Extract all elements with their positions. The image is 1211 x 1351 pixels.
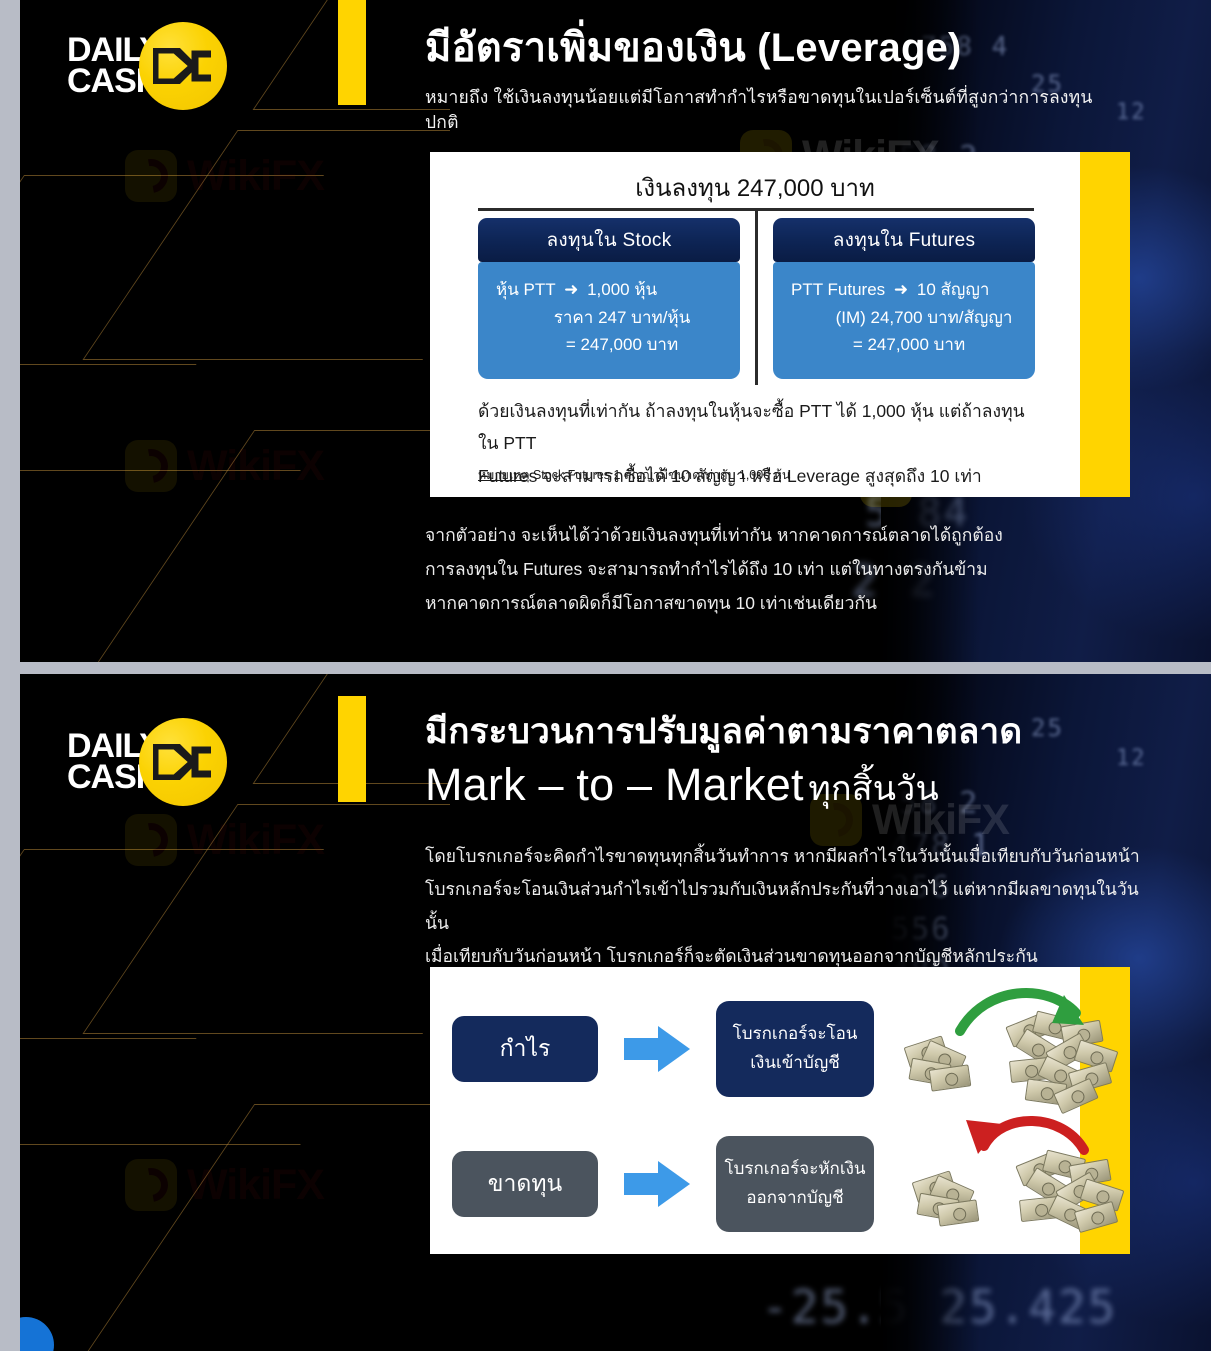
brand-logo[interactable]: DAILY CASH <box>67 22 227 110</box>
flow-message-loss-line-2: ออกจากบัญชี <box>746 1184 843 1213</box>
stock-line-3: = 247,000 บาท <box>496 331 722 359</box>
column-stock-header: ลงทุนใน Stock <box>478 218 740 262</box>
footnote-label: หมายเหตุ <box>478 468 529 482</box>
flow-row-profit: กำไร โบรกเกอร์จะโอน เงินเข้าบัญชี <box>452 989 1150 1109</box>
card-paragraph-line-1: ด้วยเงินลงทุนที่เท่ากัน ถ้าลงทุนในหุ้นจะ… <box>478 395 1038 460</box>
slide2-body-line-2: โบรกเกอร์จะโอนเงินส่วนกำไรเข้าไปรวมกับเง… <box>425 873 1145 940</box>
footnote-text: Stock Futures 1 สัญญามีขนาดเท่ากับ 1,000… <box>533 468 790 482</box>
accent-bar <box>338 0 366 105</box>
slide2-title-th: ทุกสิ้นวัน <box>808 770 939 808</box>
column-futures-body: PTT Futures ➜ 10 สัญญา (IM) 24,700 บาท/ส… <box>773 262 1035 379</box>
dc-monogram-icon <box>139 22 227 110</box>
stock-line-2: ราคา 247 บาท/หุ้น <box>496 304 722 332</box>
slide1-body-line-2: การลงทุนใน Futures จะสามารถทำกำไรได้ถึง … <box>425 552 1125 586</box>
slide1-body-line-3: หากคาดการณ์ตลาดผิดก็มีโอกาสขาดทุน 10 เท่… <box>425 586 1125 620</box>
flow-message-profit-line-1: โบรกเกอร์จะโอน <box>733 1020 858 1049</box>
card-divider-vertical <box>755 210 758 385</box>
flow-label-loss: ขาดทุน <box>452 1151 598 1217</box>
money-illustration-profit <box>900 989 1150 1109</box>
slide1-body-line-1: จากตัวอย่าง จะเห็นได้ว่าด้วยเงินลงทุนที่… <box>425 518 1125 552</box>
dc-monogram-icon <box>139 718 227 806</box>
accent-bar <box>338 696 366 802</box>
flow-message-loss: โบรกเกอร์จะหักเงิน ออกจากบัญชี <box>716 1136 874 1232</box>
slide1-title: มีอัตราเพิ่มของเงิน (Leverage) <box>425 26 962 71</box>
flow-label-profit: กำไร <box>452 1016 598 1082</box>
slide1-subtitle: หมายถึง ใช้เงินลงทุนน้อยแต่มีโอกาสทำกำไร… <box>425 85 1125 136</box>
page-root: 758 4 25 12 58 2 478 1 256 556 480 54.21… <box>0 0 1211 1351</box>
leverage-infographic-card: เงินลงทุน 247,000 บาท ลงทุนใน Stock หุ้น… <box>430 152 1130 497</box>
flow-row-loss: ขาดทุน โบรกเกอร์จะหักเงิน ออกจากบัญชี <box>452 1124 1150 1244</box>
slide1-body: จากตัวอย่าง จะเห็นได้ว่าด้วยเงินลงทุนที่… <box>425 518 1125 620</box>
slide2-title-line-2: Mark – to – Market ทุกสิ้นวัน <box>425 760 939 810</box>
money-illustration-loss <box>900 1124 1150 1244</box>
curved-arrow-up-icon <box>952 983 1102 1043</box>
slide2-title-line-1: มีกระบวนการปรับมูลค่าตามราคาตลาด <box>425 712 1022 751</box>
right-arrow-icon: ➜ <box>560 280 582 299</box>
slide2-body-line-1: โดยโบรกเกอร์จะคิดกำไรขาดทุนทุกสิ้นวันทำก… <box>425 840 1145 873</box>
brand-logo[interactable]: DAILY CASH <box>67 718 227 806</box>
arrow-right-icon <box>624 1026 690 1072</box>
mtm-flow-card: กำไร โบรกเกอร์จะโอน เงินเข้าบัญชี <box>430 967 1130 1254</box>
card-heading: เงินลงทุน 247,000 บาท <box>430 168 1080 207</box>
slide2-body: โดยโบรกเกอร์จะคิดกำไรขาดทุนทุกสิ้นวันทำก… <box>425 840 1145 973</box>
column-stock-body: หุ้น PTT ➜ 1,000 หุ้น ราคา 247 บาท/หุ้น … <box>478 262 740 379</box>
column-stock: ลงทุนใน Stock หุ้น PTT ➜ 1,000 หุ้น ราคา… <box>478 218 740 379</box>
slide-mark-to-market: 25 12 58 2 478 1 256 556 480 54.21 824 .… <box>20 674 1211 1351</box>
right-arrow-icon: ➜ <box>890 280 912 299</box>
flow-message-profit: โบรกเกอร์จะโอน เงินเข้าบัญชี <box>716 1001 874 1097</box>
column-futures-header: ลงทุนใน Futures <box>773 218 1035 262</box>
arrow-right-icon <box>624 1161 690 1207</box>
slide2-title-en: Mark – to – Market <box>425 759 804 810</box>
futures-line-2: (IM) 24,700 บาท/สัญญา <box>791 304 1017 332</box>
column-futures: ลงทุนใน Futures PTT Futures ➜ 10 สัญญา (… <box>773 218 1035 379</box>
futures-line-1: PTT Futures ➜ 10 สัญญา <box>791 276 1017 304</box>
flow-message-profit-line-2: เงินเข้าบัญชี <box>750 1049 840 1078</box>
card-yellow-accent <box>1080 152 1130 497</box>
futures-line-3: = 247,000 บาท <box>791 331 1017 359</box>
flow-message-loss-line-1: โบรกเกอร์จะหักเงิน <box>724 1155 865 1184</box>
slide-leverage: 758 4 25 12 58 2 478 1 256 556 480 54.21… <box>20 0 1211 662</box>
left-scroll-gutter[interactable] <box>0 0 20 1351</box>
curved-arrow-down-icon <box>958 1110 1108 1170</box>
card-footnote: หมายเหตุ Stock Futures 1 สัญญามีขนาดเท่า… <box>478 465 790 485</box>
stock-line-1: หุ้น PTT ➜ 1,000 หุ้น <box>496 276 722 304</box>
